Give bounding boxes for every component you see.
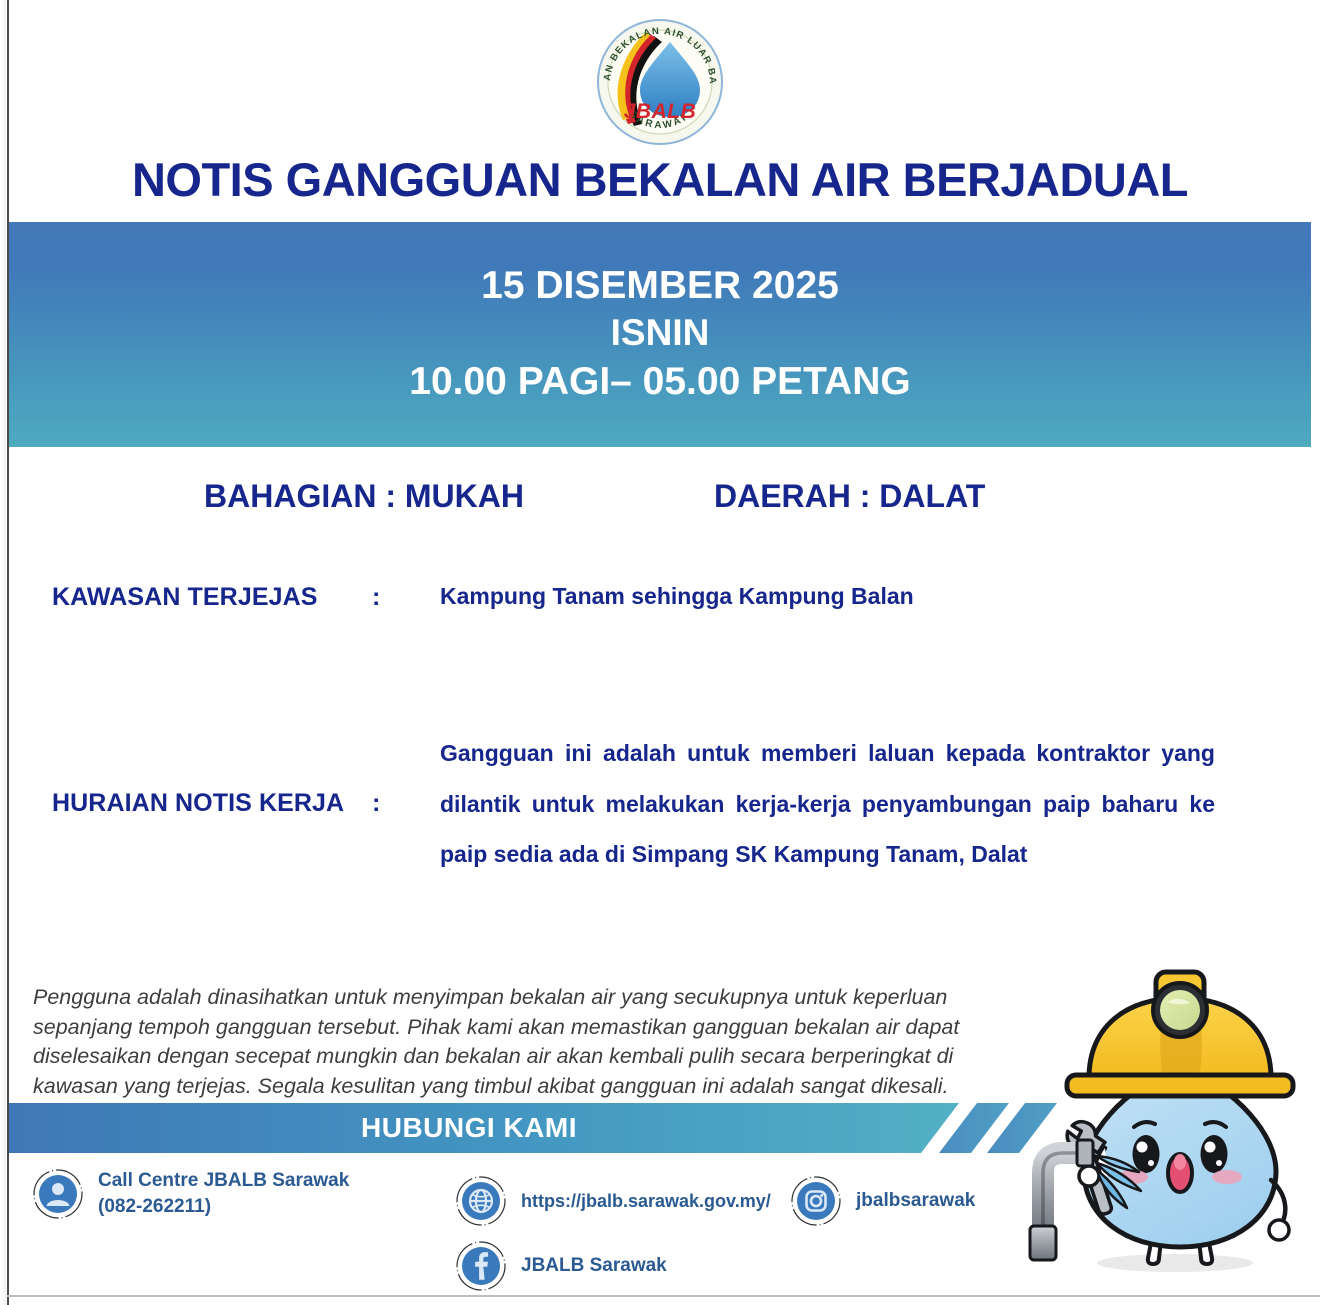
page-title: NOTIS GANGGUAN BEKALAN AIR BERJADUAL bbox=[0, 152, 1320, 207]
affected-area-value: Kampung Tanam sehingga Kampung Balan bbox=[440, 583, 1252, 610]
page-border-bottom bbox=[7, 1295, 1320, 1297]
notice-poster: JABATAN BEKALAN AIR LUAR BANDAR SARAWAK … bbox=[0, 0, 1320, 1305]
contact-instagram[interactable]: jbalbsarawak bbox=[790, 1175, 975, 1227]
contact-website[interactable]: https://jbalb.sarawak.gov.my/ bbox=[455, 1175, 771, 1227]
affected-area-colon: : bbox=[372, 583, 440, 612]
instagram-icon bbox=[790, 1175, 842, 1227]
globe-icon bbox=[455, 1175, 507, 1227]
facebook-icon bbox=[455, 1240, 507, 1292]
schedule-day: ISNIN bbox=[611, 310, 710, 356]
schedule-time: 10.00 PAGI– 05.00 PETANG bbox=[409, 357, 910, 408]
call-centre-text: Call Centre JBALB Sarawak (082-262211) bbox=[98, 1168, 349, 1219]
instagram-text: jbalbsarawak bbox=[856, 1188, 975, 1214]
work-description-colon: : bbox=[372, 789, 440, 818]
district-label: DAERAH : DALAT bbox=[714, 478, 985, 515]
svg-text:JBALB: JBALB bbox=[624, 100, 697, 123]
facebook-text: JBALB Sarawak bbox=[521, 1253, 667, 1279]
contact-call-centre[interactable]: Call Centre JBALB Sarawak (082-262211) bbox=[32, 1168, 349, 1220]
work-description-label: HURAIAN NOTIS KERJA bbox=[52, 789, 372, 818]
work-description-value: Gangguan ini adalah untuk memberi laluan… bbox=[440, 728, 1215, 880]
contact-banner: HUBUNGI KAMI bbox=[9, 1103, 1069, 1153]
water-droplet-worker-mascot bbox=[1027, 958, 1312, 1288]
jbalb-logo: JABATAN BEKALAN AIR LUAR BANDAR SARAWAK … bbox=[592, 14, 728, 146]
person-icon bbox=[32, 1168, 84, 1220]
website-text: https://jbalb.sarawak.gov.my/ bbox=[521, 1189, 771, 1213]
advisory-text: Pengguna adalah dinasihatkan untuk menyi… bbox=[33, 983, 963, 1102]
affected-area-row: KAWASAN TERJEJAS : Kampung Tanam sehingg… bbox=[52, 583, 1252, 612]
schedule-banner: 15 DISEMBER 2025 ISNIN 10.00 PAGI– 05.00… bbox=[9, 222, 1311, 447]
affected-area-label: KAWASAN TERJEJAS bbox=[52, 583, 372, 612]
region-row: BAHAGIAN : MUKAH DAERAH : DALAT bbox=[9, 478, 1311, 515]
division-label: BAHAGIAN : MUKAH bbox=[204, 478, 524, 515]
schedule-date: 15 DISEMBER 2025 bbox=[481, 262, 839, 311]
work-description-row: HURAIAN NOTIS KERJA : Gangguan ini adala… bbox=[52, 728, 1252, 880]
contact-facebook[interactable]: JBALB Sarawak bbox=[455, 1240, 667, 1292]
